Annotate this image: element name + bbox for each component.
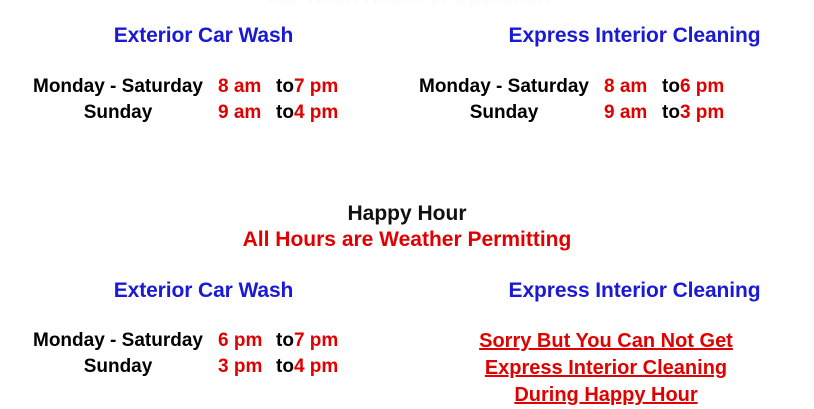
close-time: 6 pm [680,74,736,100]
open-time: 3 pm [218,354,276,380]
hours-row: Sunday 9 am to 4 pm [18,100,350,126]
close-time: 4 pm [294,354,350,380]
hours-row: Monday - Saturday 8 am to 7 pm [18,74,350,100]
close-time: 4 pm [294,100,350,126]
days-label: Sunday [18,100,218,126]
regular-hours-headings: Exterior Car Wash Express Interior Clean… [0,24,814,48]
open-time: 9 am [604,100,662,126]
cut-off-title-sliver: Car Wash Hours of Operation [0,0,814,9]
happy-hour-table-exterior: Monday - Saturday 6 pm to 7 pm Sunday 3 … [18,328,350,380]
notice-line-3: During Happy Hour [420,382,792,409]
close-time: 7 pm [294,328,350,354]
regular-hours-table-exterior: Monday - Saturday 8 am to 7 pm Sunday 9 … [18,74,350,126]
weather-permitting-note: All Hours are Weather Permitting [0,228,814,252]
days-label: Monday - Saturday [404,74,604,100]
notice-line-1: Sorry But You Can Not Get [420,328,792,355]
time-separator: to [276,100,294,126]
open-time: 9 am [218,100,276,126]
hours-row: Sunday 3 pm to 4 pm [18,354,350,380]
regular-hours-table-express: Monday - Saturday 8 am to 6 pm Sunday 9 … [404,74,736,126]
happy-hour-title: Happy Hour [0,202,814,226]
close-time: 7 pm [294,74,350,100]
hours-of-operation-sign: Car Wash Hours of Operation Exterior Car… [0,0,814,407]
open-time: 8 am [604,74,662,100]
time-separator: to [662,100,680,126]
happy-hour-headings: Exterior Car Wash Express Interior Clean… [0,279,814,303]
hours-row: Sunday 9 am to 3 pm [404,100,736,126]
heading-express-interior-cleaning-happy-hour: Express Interior Cleaning [419,279,814,303]
heading-express-interior-cleaning-regular: Express Interior Cleaning [419,24,814,48]
time-separator: to [276,328,294,354]
close-time: 3 pm [680,100,736,126]
time-separator: to [276,74,294,100]
time-separator: to [276,354,294,380]
notice-line-2: Express Interior Cleaning [420,355,792,382]
days-label: Monday - Saturday [18,74,218,100]
days-label: Monday - Saturday [18,328,218,354]
hours-row: Monday - Saturday 8 am to 6 pm [404,74,736,100]
hours-row: Monday - Saturday 6 pm to 7 pm [18,328,350,354]
heading-exterior-car-wash-happy-hour: Exterior Car Wash [0,279,419,303]
days-label: Sunday [404,100,604,126]
time-separator: to [662,74,680,100]
open-time: 6 pm [218,328,276,354]
days-label: Sunday [18,354,218,380]
open-time: 8 am [218,74,276,100]
heading-exterior-car-wash-regular: Exterior Car Wash [0,24,419,48]
happy-hour-express-notice: Sorry But You Can Not Get Express Interi… [420,328,792,409]
